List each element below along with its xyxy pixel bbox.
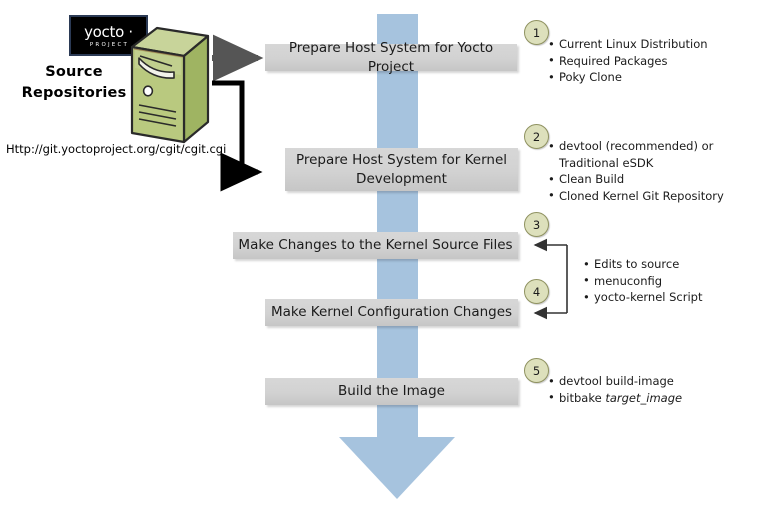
- flow-arrow-head: [339, 437, 455, 499]
- process-box-step2-line1: Prepare Host System for Kernel: [296, 152, 507, 168]
- bullet-item: menuconfig: [583, 273, 703, 289]
- process-box-step2-line2: Development: [356, 171, 447, 187]
- process-box-step3[interactable]: Make Changes to the Kernel Source Files: [233, 232, 518, 259]
- step-circle-1: 1: [524, 20, 549, 45]
- source-label-line1: Source: [14, 62, 134, 83]
- step-number-3: 3: [533, 218, 540, 232]
- process-box-step1[interactable]: Prepare Host System for Yocto Project: [265, 44, 517, 71]
- bullet-item: Current Linux Distribution: [548, 36, 708, 52]
- step-number-4: 4: [533, 285, 540, 299]
- server-icon: [129, 25, 211, 145]
- bullet-list-step5: devtool build-imagebitbake target_image: [548, 373, 682, 406]
- step-circle-3: 3: [524, 212, 549, 237]
- process-box-step5-label: Build the Image: [338, 382, 445, 401]
- process-box-step2[interactable]: Prepare Host System for Kernel Developme…: [285, 148, 518, 191]
- step-circle-4: 4: [524, 279, 549, 304]
- process-box-step1-label: Prepare Host System for Yocto Project: [265, 39, 517, 77]
- bullet-item: Cloned Kernel Git Repository: [548, 188, 724, 204]
- bullet-item: Edits to source: [583, 256, 703, 272]
- bullet-item: devtool build-image: [548, 373, 682, 389]
- process-box-step3-label: Make Changes to the Kernel Source Files: [238, 236, 512, 255]
- step-number-5: 5: [533, 364, 540, 378]
- bullet-item: devtool (recommended) or: [548, 138, 724, 154]
- bullet-list-step1: Current Linux DistributionRequired Packa…: [548, 36, 708, 86]
- bullet-item: Required Packages: [548, 53, 708, 69]
- bullet-item: Poky Clone: [548, 69, 708, 85]
- diagram-canvas: yocto · PROJECT Source Repositories Http…: [0, 0, 769, 517]
- flow-arrow-shaft: [377, 14, 418, 438]
- bullet-item: Clean Build: [548, 171, 724, 187]
- process-box-step4-label: Make Kernel Configuration Changes: [271, 303, 512, 322]
- step-number-2: 2: [533, 130, 540, 144]
- bullet-item: yocto-kernel Script: [583, 289, 703, 305]
- connector-server-to-step2: [212, 83, 258, 172]
- bullet-item: bitbake target_image: [548, 390, 682, 406]
- step-number-1: 1: [533, 26, 540, 40]
- process-box-step4[interactable]: Make Kernel Configuration Changes: [265, 299, 518, 326]
- source-repositories-label: Source Repositories: [14, 62, 134, 104]
- step-circle-5: 5: [524, 358, 549, 383]
- process-box-step2-label: Prepare Host System for Kernel Developme…: [296, 151, 507, 189]
- bullet-list-step2: devtool (recommended) orTraditional eSDK…: [548, 138, 724, 204]
- step-circle-2: 2: [524, 124, 549, 149]
- bullet-list-step3-4: Edits to sourcemenuconfigyocto-kernel Sc…: [583, 256, 703, 306]
- source-label-line2: Repositories: [14, 83, 134, 104]
- bullet-item-emphasis: target_image: [605, 391, 682, 405]
- bullet-item: Traditional eSDK: [548, 155, 724, 171]
- process-box-step5[interactable]: Build the Image: [265, 378, 518, 405]
